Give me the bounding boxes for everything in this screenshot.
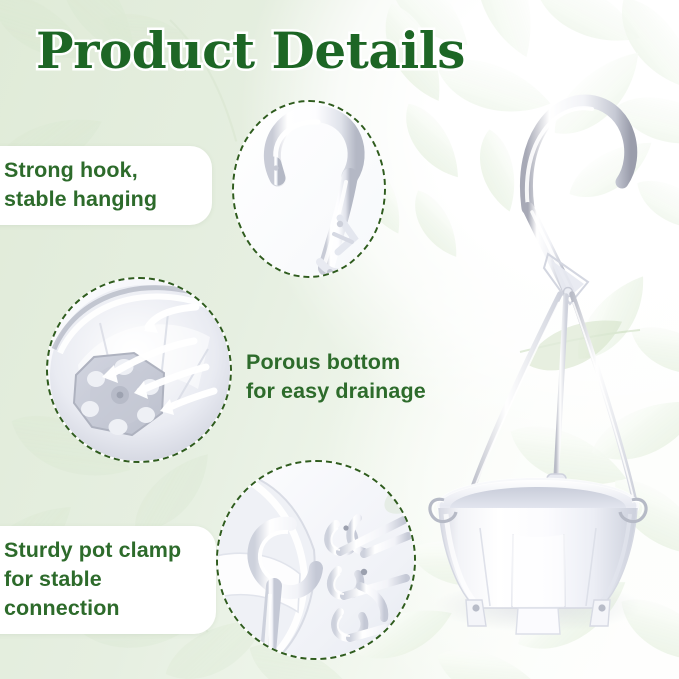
detail-circle-porous-bottom-image bbox=[48, 279, 230, 461]
callout-sturdy-clamp-line-2: for stable bbox=[4, 565, 196, 594]
callout-strong-hook: Strong hook, stable hanging bbox=[0, 146, 212, 225]
detail-circle-strong-hook bbox=[232, 100, 386, 278]
callout-porous-bottom-line-2: for easy drainage bbox=[246, 377, 452, 406]
infographic-canvas: Product Details bbox=[0, 0, 679, 679]
detail-circle-pot-clamp bbox=[216, 460, 416, 660]
product-hanging-cords bbox=[470, 294, 634, 498]
callout-porous-bottom: Porous bottom for easy drainage bbox=[222, 338, 472, 417]
callout-strong-hook-line-1: Strong hook, bbox=[4, 156, 192, 185]
callout-sturdy-clamp-line-1: Sturdy pot clamp bbox=[4, 536, 196, 565]
detail-circle-pot-clamp-image bbox=[218, 462, 414, 658]
callout-porous-bottom-line-1: Porous bottom bbox=[246, 348, 452, 377]
callout-strong-hook-line-2: stable hanging bbox=[4, 185, 192, 214]
detail-circle-porous-bottom bbox=[46, 277, 232, 463]
detail-circle-strong-hook-image bbox=[234, 102, 384, 276]
callout-sturdy-clamp-line-3: connection bbox=[4, 594, 196, 623]
callout-sturdy-clamp: Sturdy pot clamp for stable connection bbox=[0, 526, 216, 634]
product-hook bbox=[526, 101, 630, 304]
page-title: Product Details bbox=[36, 22, 465, 80]
